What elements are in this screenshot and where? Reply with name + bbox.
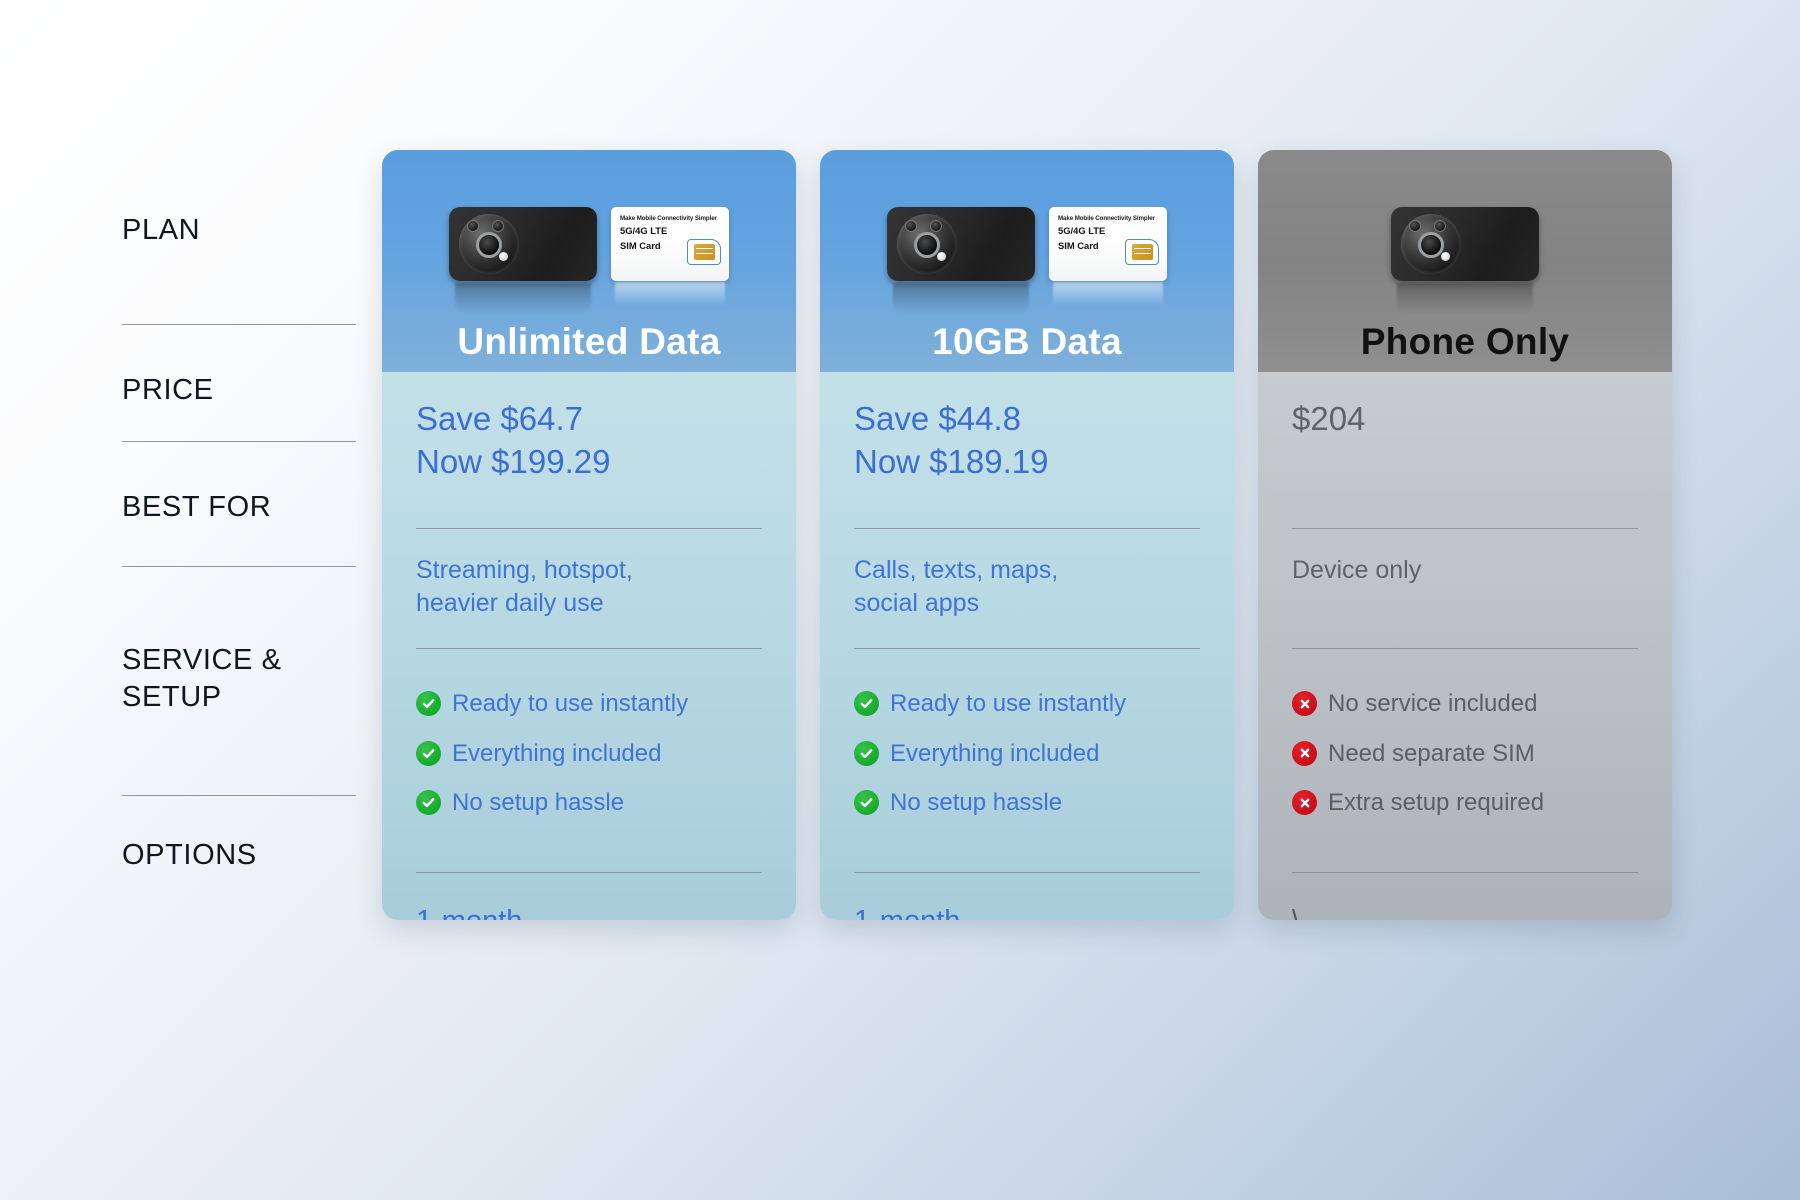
- card-price: $204: [1292, 398, 1638, 441]
- lens-small-1-icon: [1409, 220, 1421, 232]
- row-label-service-text: SERVICE & SETUP: [122, 642, 282, 716]
- sim-tagline: Make Mobile Connectivity Simpler: [1058, 216, 1159, 222]
- product-imagery: [1258, 184, 1672, 304]
- phone-icon: [449, 207, 597, 281]
- feature-item: Everything included: [416, 740, 762, 768]
- card-price: Save $64.7 Now $199.29: [416, 398, 762, 483]
- card-divider-bestfor: [854, 648, 1200, 649]
- feature-label: Ready to use instantly: [890, 690, 1126, 718]
- card-best-for: Device only: [1292, 554, 1638, 587]
- lens-small-2-icon: [492, 220, 504, 232]
- card-divider-features: [416, 872, 762, 873]
- phone-reflection: [893, 283, 1029, 313]
- card-header: Make Mobile Connectivity Simpler 5G/4G L…: [382, 150, 796, 372]
- lens-small-2-icon: [1434, 220, 1446, 232]
- card-divider-features: [1292, 872, 1638, 873]
- check-circle-icon: [416, 691, 441, 716]
- row-label-bestfor: BEST FOR: [122, 489, 362, 526]
- card-best-for: Calls, texts, maps, social apps: [854, 554, 1200, 620]
- lens-main-icon: [1418, 232, 1444, 258]
- card-feature-list: No service included Need separate SIM Ex…: [1292, 690, 1638, 817]
- camera-module-icon: [459, 214, 519, 274]
- card-body: Save $44.8 Now $189.19 Calls, texts, map…: [820, 372, 1234, 920]
- feature-label: Extra setup required: [1328, 789, 1544, 817]
- sim-line-1: 5G/4G LTE: [620, 225, 721, 237]
- lens-small-1-icon: [905, 220, 917, 232]
- sim-line-1: 5G/4G LTE: [1058, 225, 1159, 237]
- card-option[interactable]: 1-month: [416, 906, 762, 920]
- card-divider-price: [1292, 528, 1638, 529]
- card-option[interactable]: 1-month: [854, 906, 1200, 920]
- check-circle-icon: [854, 741, 879, 766]
- row-label-bestfor-text: BEST FOR: [122, 489, 271, 526]
- sim-card-package: Make Mobile Connectivity Simpler 5G/4G L…: [1049, 207, 1167, 281]
- row-label-price: PRICE: [122, 372, 362, 409]
- feature-label: No setup hassle: [890, 789, 1062, 817]
- feature-label: Everything included: [452, 740, 661, 768]
- lens-main-icon: [476, 232, 502, 258]
- card-divider-price: [854, 528, 1200, 529]
- feature-item: Ready to use instantly: [416, 690, 762, 718]
- flash-icon: [499, 252, 508, 261]
- card-divider-bestfor: [1292, 648, 1638, 649]
- check-circle-icon: [416, 790, 441, 815]
- lens-small-1-icon: [467, 220, 479, 232]
- row-divider-2: [122, 441, 356, 442]
- comparison-board: PLAN PRICE BEST FOR SERVICE & SETUP OPTI…: [0, 0, 1800, 1200]
- card-divider-features: [854, 872, 1200, 873]
- row-label-column: PLAN PRICE BEST FOR SERVICE & SETUP OPTI…: [122, 150, 362, 1060]
- card-title: 10GB Data: [932, 323, 1122, 360]
- feature-item: Need separate SIM: [1292, 740, 1638, 768]
- product-imagery: Make Mobile Connectivity Simpler 5G/4G L…: [382, 184, 796, 304]
- card-price: Save $44.8 Now $189.19: [854, 398, 1200, 483]
- row-label-plan: PLAN: [122, 212, 362, 249]
- card-header: Make Mobile Connectivity Simpler 5G/4G L…: [820, 150, 1234, 372]
- feature-item: Extra setup required: [1292, 789, 1638, 817]
- cross-circle-icon: [1292, 691, 1317, 716]
- feature-label: Need separate SIM: [1328, 740, 1535, 768]
- phone-reflection: [1397, 283, 1533, 313]
- feature-label: No service included: [1328, 690, 1537, 718]
- feature-item: No setup hassle: [854, 789, 1200, 817]
- row-divider-1: [122, 324, 356, 325]
- feature-label: No setup hassle: [452, 789, 624, 817]
- phone-reflection: [455, 283, 591, 313]
- card-title: Phone Only: [1361, 323, 1570, 360]
- product-imagery: Make Mobile Connectivity Simpler 5G/4G L…: [820, 184, 1234, 304]
- card-option[interactable]: \: [1292, 906, 1638, 920]
- feature-label: Ready to use instantly: [452, 690, 688, 718]
- card-feature-list: Ready to use instantly Everything includ…: [854, 690, 1200, 817]
- check-circle-icon: [854, 691, 879, 716]
- row-divider-3: [122, 566, 356, 567]
- row-label-options: OPTIONS: [122, 837, 362, 874]
- camera-module-icon: [897, 214, 957, 274]
- sim-tagline: Make Mobile Connectivity Simpler: [620, 216, 721, 222]
- sim-card-package: Make Mobile Connectivity Simpler 5G/4G L…: [611, 207, 729, 281]
- plan-card-phone-only[interactable]: Phone Only $204 Device only No service i…: [1258, 150, 1672, 920]
- feature-label: Everything included: [890, 740, 1099, 768]
- card-divider-bestfor: [416, 648, 762, 649]
- lens-main-icon: [914, 232, 940, 258]
- feature-item: No setup hassle: [416, 789, 762, 817]
- card-header: Phone Only: [1258, 150, 1672, 372]
- row-divider-4: [122, 795, 356, 796]
- feature-item: Everything included: [854, 740, 1200, 768]
- plan-card-10gb-data[interactable]: Make Mobile Connectivity Simpler 5G/4G L…: [820, 150, 1234, 920]
- check-circle-icon: [854, 790, 879, 815]
- phone-icon: [887, 207, 1035, 281]
- row-label-plan-text: PLAN: [122, 212, 200, 249]
- sim-chip-contacts: [694, 244, 715, 260]
- sim-reflection: [615, 282, 725, 306]
- phone-icon: [1391, 207, 1539, 281]
- check-circle-icon: [416, 741, 441, 766]
- sim-chip-icon: [687, 239, 721, 265]
- row-label-options-text: OPTIONS: [122, 837, 257, 874]
- card-divider-price: [416, 528, 762, 529]
- row-label-price-text: PRICE: [122, 372, 214, 409]
- row-label-service: SERVICE & SETUP: [122, 642, 362, 716]
- camera-module-icon: [1401, 214, 1461, 274]
- card-feature-list: Ready to use instantly Everything includ…: [416, 690, 762, 817]
- flash-icon: [1441, 252, 1450, 261]
- sim-reflection: [1053, 282, 1163, 306]
- sim-chip-icon: [1125, 239, 1159, 265]
- sim-chip-contacts: [1132, 244, 1153, 260]
- card-best-for: Streaming, hotspot, heavier daily use: [416, 554, 762, 620]
- card-body: $204 Device only No service included Nee…: [1258, 372, 1672, 920]
- cross-circle-icon: [1292, 741, 1317, 766]
- feature-item: No service included: [1292, 690, 1638, 718]
- card-body: Save $64.7 Now $199.29 Streaming, hotspo…: [382, 372, 796, 920]
- plan-card-unlimited-data[interactable]: Make Mobile Connectivity Simpler 5G/4G L…: [382, 150, 796, 920]
- flash-icon: [937, 252, 946, 261]
- cross-circle-icon: [1292, 790, 1317, 815]
- card-title: Unlimited Data: [457, 323, 720, 360]
- feature-item: Ready to use instantly: [854, 690, 1200, 718]
- lens-small-2-icon: [930, 220, 942, 232]
